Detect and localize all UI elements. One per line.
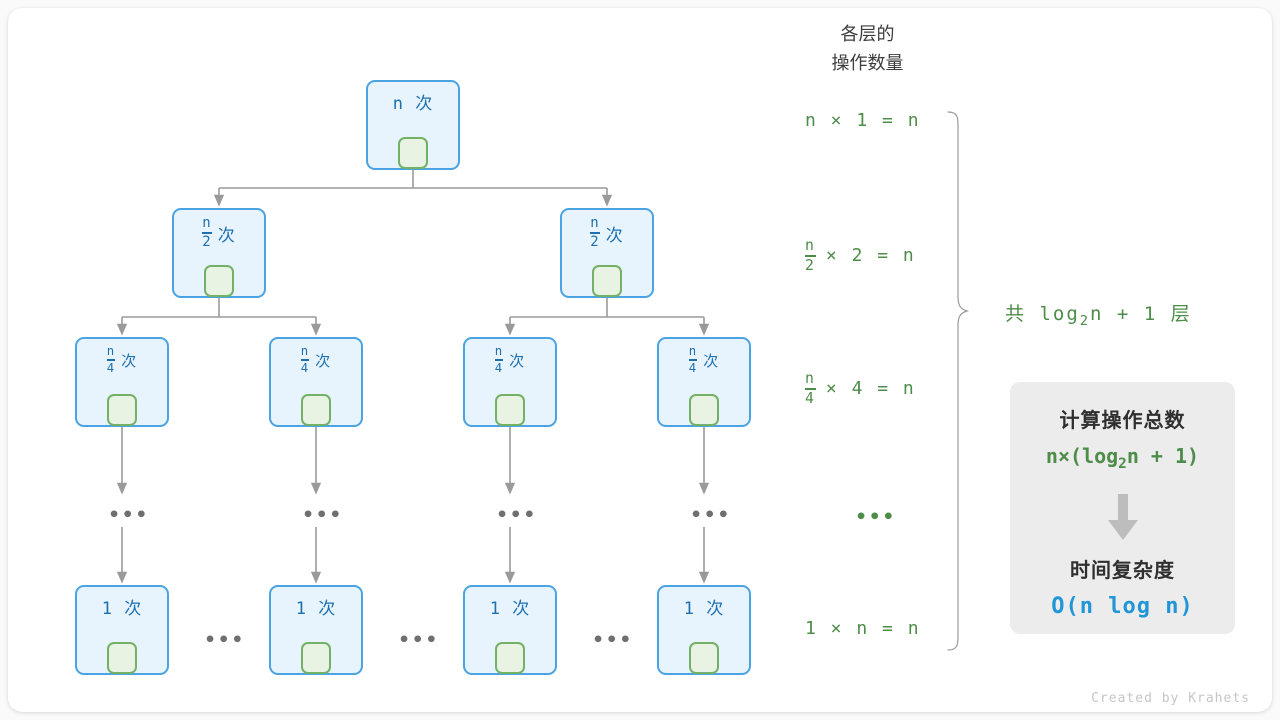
tree-node-label: n2次 xyxy=(562,217,652,250)
vertical-ellipsis: ••• xyxy=(496,506,537,525)
vertical-ellipsis: ••• xyxy=(302,506,343,525)
log-base-subscript: 2 xyxy=(1118,456,1127,472)
vertical-ellipsis: ••• xyxy=(690,506,731,525)
right-column-heading: 各层的 操作数量 xyxy=(790,20,945,78)
summary-panel: 计算操作总数 n×(log2n + 1) 时间复杂度 O(n log n) xyxy=(1010,382,1235,634)
heading-line-1: 各层的 xyxy=(790,20,945,49)
operation-unit-box xyxy=(107,394,137,426)
horizontal-ellipsis: ••• xyxy=(398,631,439,650)
summary-title: 计算操作总数 xyxy=(1010,404,1235,433)
equation-level-3: n4× 4 = n xyxy=(805,371,916,406)
tree-node-label: n4次 xyxy=(659,346,749,376)
operation-unit-box xyxy=(301,642,331,674)
tree-node-label: 1 次 xyxy=(465,594,555,619)
tree-node-label: n2次 xyxy=(174,217,264,250)
equation-level-last: 1 × n = n xyxy=(805,620,921,638)
operation-unit-box xyxy=(495,642,525,674)
credit-text: Created by Krahets xyxy=(1091,691,1250,706)
total-levels-note: 共 log2n + 1 层 xyxy=(1005,299,1192,329)
equation-level-2: n2× 2 = n xyxy=(805,238,916,273)
horizontal-ellipsis: ••• xyxy=(204,631,245,650)
tree-node-label: n4次 xyxy=(271,346,361,376)
log-base-subscript: 2 xyxy=(1080,313,1090,329)
operation-unit-box xyxy=(398,137,428,169)
summary-title-2: 时间复杂度 xyxy=(1010,554,1235,583)
equation-level-1: n × 1 = n xyxy=(805,112,921,130)
operation-unit-box xyxy=(301,394,331,426)
operation-unit-box xyxy=(495,394,525,426)
tree-node-label: 1 次 xyxy=(77,594,167,619)
operation-unit-box xyxy=(107,642,137,674)
down-arrow-icon xyxy=(1107,494,1139,542)
tree-node-label: 1 次 xyxy=(659,594,749,619)
summary-complexity: O(n log n) xyxy=(1010,594,1235,619)
operation-unit-box xyxy=(204,265,234,297)
tree-node-label: n4次 xyxy=(77,346,167,376)
operation-unit-box xyxy=(689,642,719,674)
equation-ellipsis: ••• xyxy=(855,508,896,527)
summary-expression: n×(log2n + 1) xyxy=(1010,444,1235,472)
operation-unit-box xyxy=(592,265,622,297)
horizontal-ellipsis: ••• xyxy=(592,631,633,650)
vertical-ellipsis: ••• xyxy=(108,506,149,525)
tree-node-label: n4次 xyxy=(465,346,555,376)
heading-line-2: 操作数量 xyxy=(790,49,945,78)
level-span-brace xyxy=(948,112,967,650)
diagram-stage: n 次 n2次 n2次 n4次 n4次 n4次 n4次 xyxy=(0,0,1280,720)
operation-unit-box xyxy=(689,394,719,426)
tree-node-label: n 次 xyxy=(368,89,458,114)
tree-node-label: 1 次 xyxy=(271,594,361,619)
